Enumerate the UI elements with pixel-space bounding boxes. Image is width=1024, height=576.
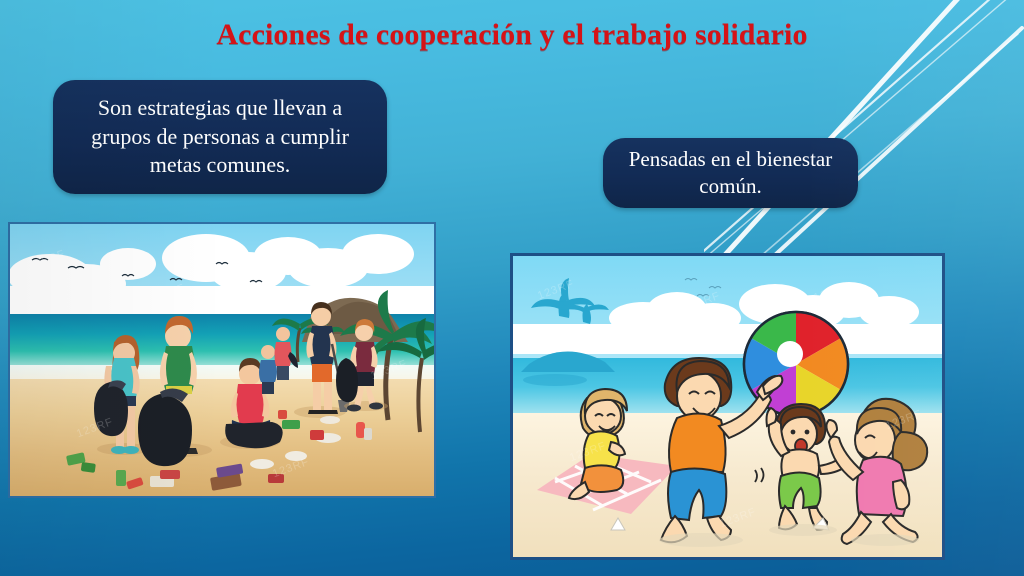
callout-bienestar-text: Pensadas en el bienestar común. (617, 146, 844, 201)
person-background-standing (275, 327, 299, 380)
person-woman-green (138, 316, 212, 466)
photo-beach-cleanup: 123RF 123RF 123RF 123RF 123RF 123RF (8, 222, 436, 498)
child-girl-pink (826, 399, 927, 544)
callout-bienestar: Pensadas en el bienestar común. (603, 138, 858, 208)
slide-canvas: Acciones de cooperación y el trabajo sol… (0, 0, 1024, 576)
callout-estrategias: Son estrategias que llevan a grupos de p… (53, 80, 387, 194)
callout-estrategias-text: Son estrategias que llevan a grupos de p… (67, 94, 373, 180)
children-playing-illustration (513, 256, 942, 557)
photo-children-playing: 123RF 123RF 123RF 123RF 123RF 123RF (510, 253, 945, 560)
clouds (513, 282, 942, 354)
slide-title: Acciones de cooperación y el trabajo sol… (0, 18, 1024, 52)
child-boy-orange (661, 358, 782, 542)
beach-cleanup-illustration (10, 224, 436, 498)
